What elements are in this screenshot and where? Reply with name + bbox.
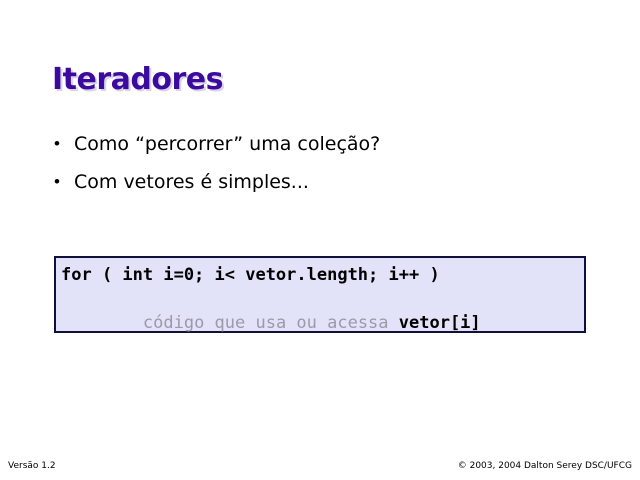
list-item: • Com vetores é simples... <box>54 168 594 196</box>
code-array-access: vetor[i] <box>399 313 481 333</box>
bullet-dot-icon: • <box>54 168 74 196</box>
code-block: for ( int i=0; i< vetor.length; i++ ) có… <box>54 256 586 333</box>
slide: Iteradores • Como “percorrer” uma coleçã… <box>0 0 640 480</box>
code-line-for-statement: for ( int i=0; i< vetor.length; i++ ) <box>61 263 440 287</box>
list-item-label: Como “percorrer” uma coleção? <box>74 130 380 158</box>
code-line-body: código que usa ou acessa vetor[i] <box>61 287 481 359</box>
footer-version: Versão 1.2 <box>8 461 56 471</box>
footer-copyright: © 2003, 2004 Dalton Serey DSC/UFCG <box>458 461 632 471</box>
code-comment-text: código que usa ou acessa <box>122 313 398 333</box>
list-item-label: Com vetores é simples... <box>74 168 309 196</box>
page-title: Iteradores <box>52 62 223 97</box>
bullet-list: • Como “percorrer” uma coleção? • Com ve… <box>54 130 594 206</box>
bullet-dot-icon: • <box>54 130 74 158</box>
list-item: • Como “percorrer” uma coleção? <box>54 130 594 158</box>
